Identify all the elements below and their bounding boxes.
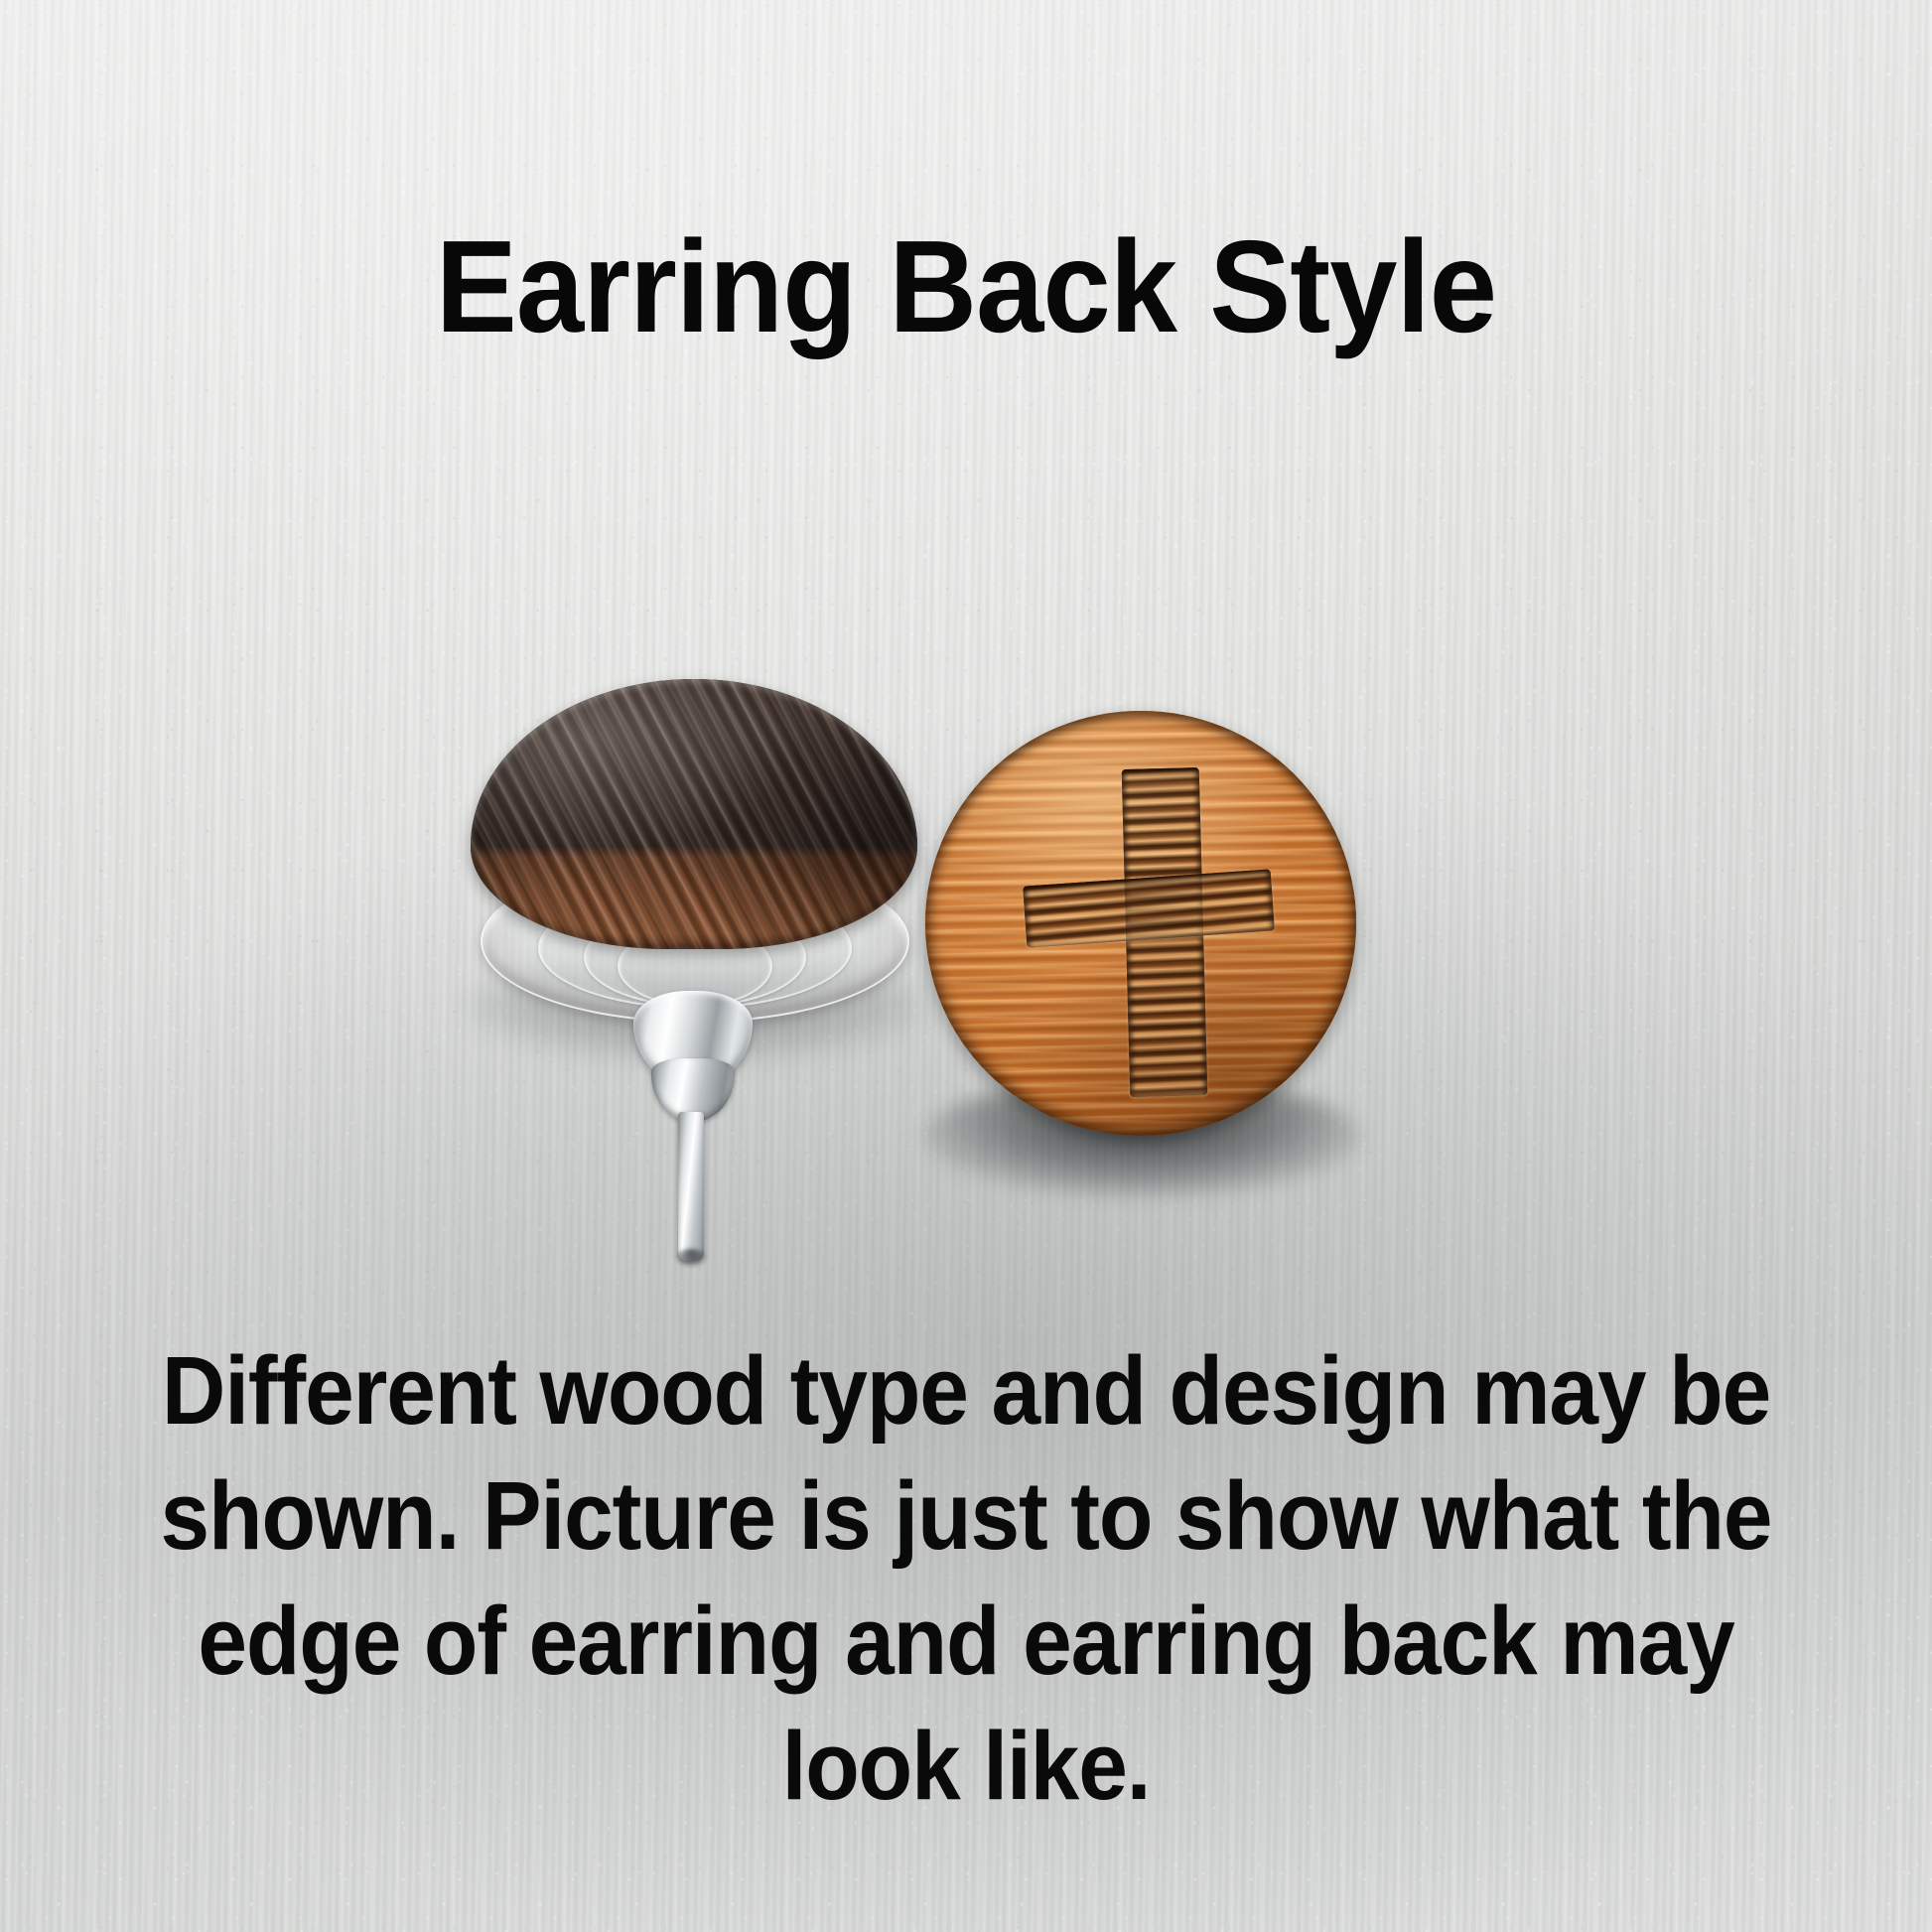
dark-wood-earring-edge: [471, 679, 917, 949]
earring-post: [678, 1112, 704, 1261]
product-image-canvas: Earring Back Style: [0, 0, 1932, 1932]
left-earring-side-view: [467, 675, 933, 1271]
right-earring-face-view: [925, 711, 1356, 1136]
page-title: Earring Back Style: [68, 220, 1864, 354]
earring-post-tip-shadow: [676, 1249, 706, 1265]
cherry-wood-rim-shadow: [925, 711, 1356, 1136]
disclaimer-caption: Different wood type and design may be sh…: [125, 1328, 1808, 1829]
